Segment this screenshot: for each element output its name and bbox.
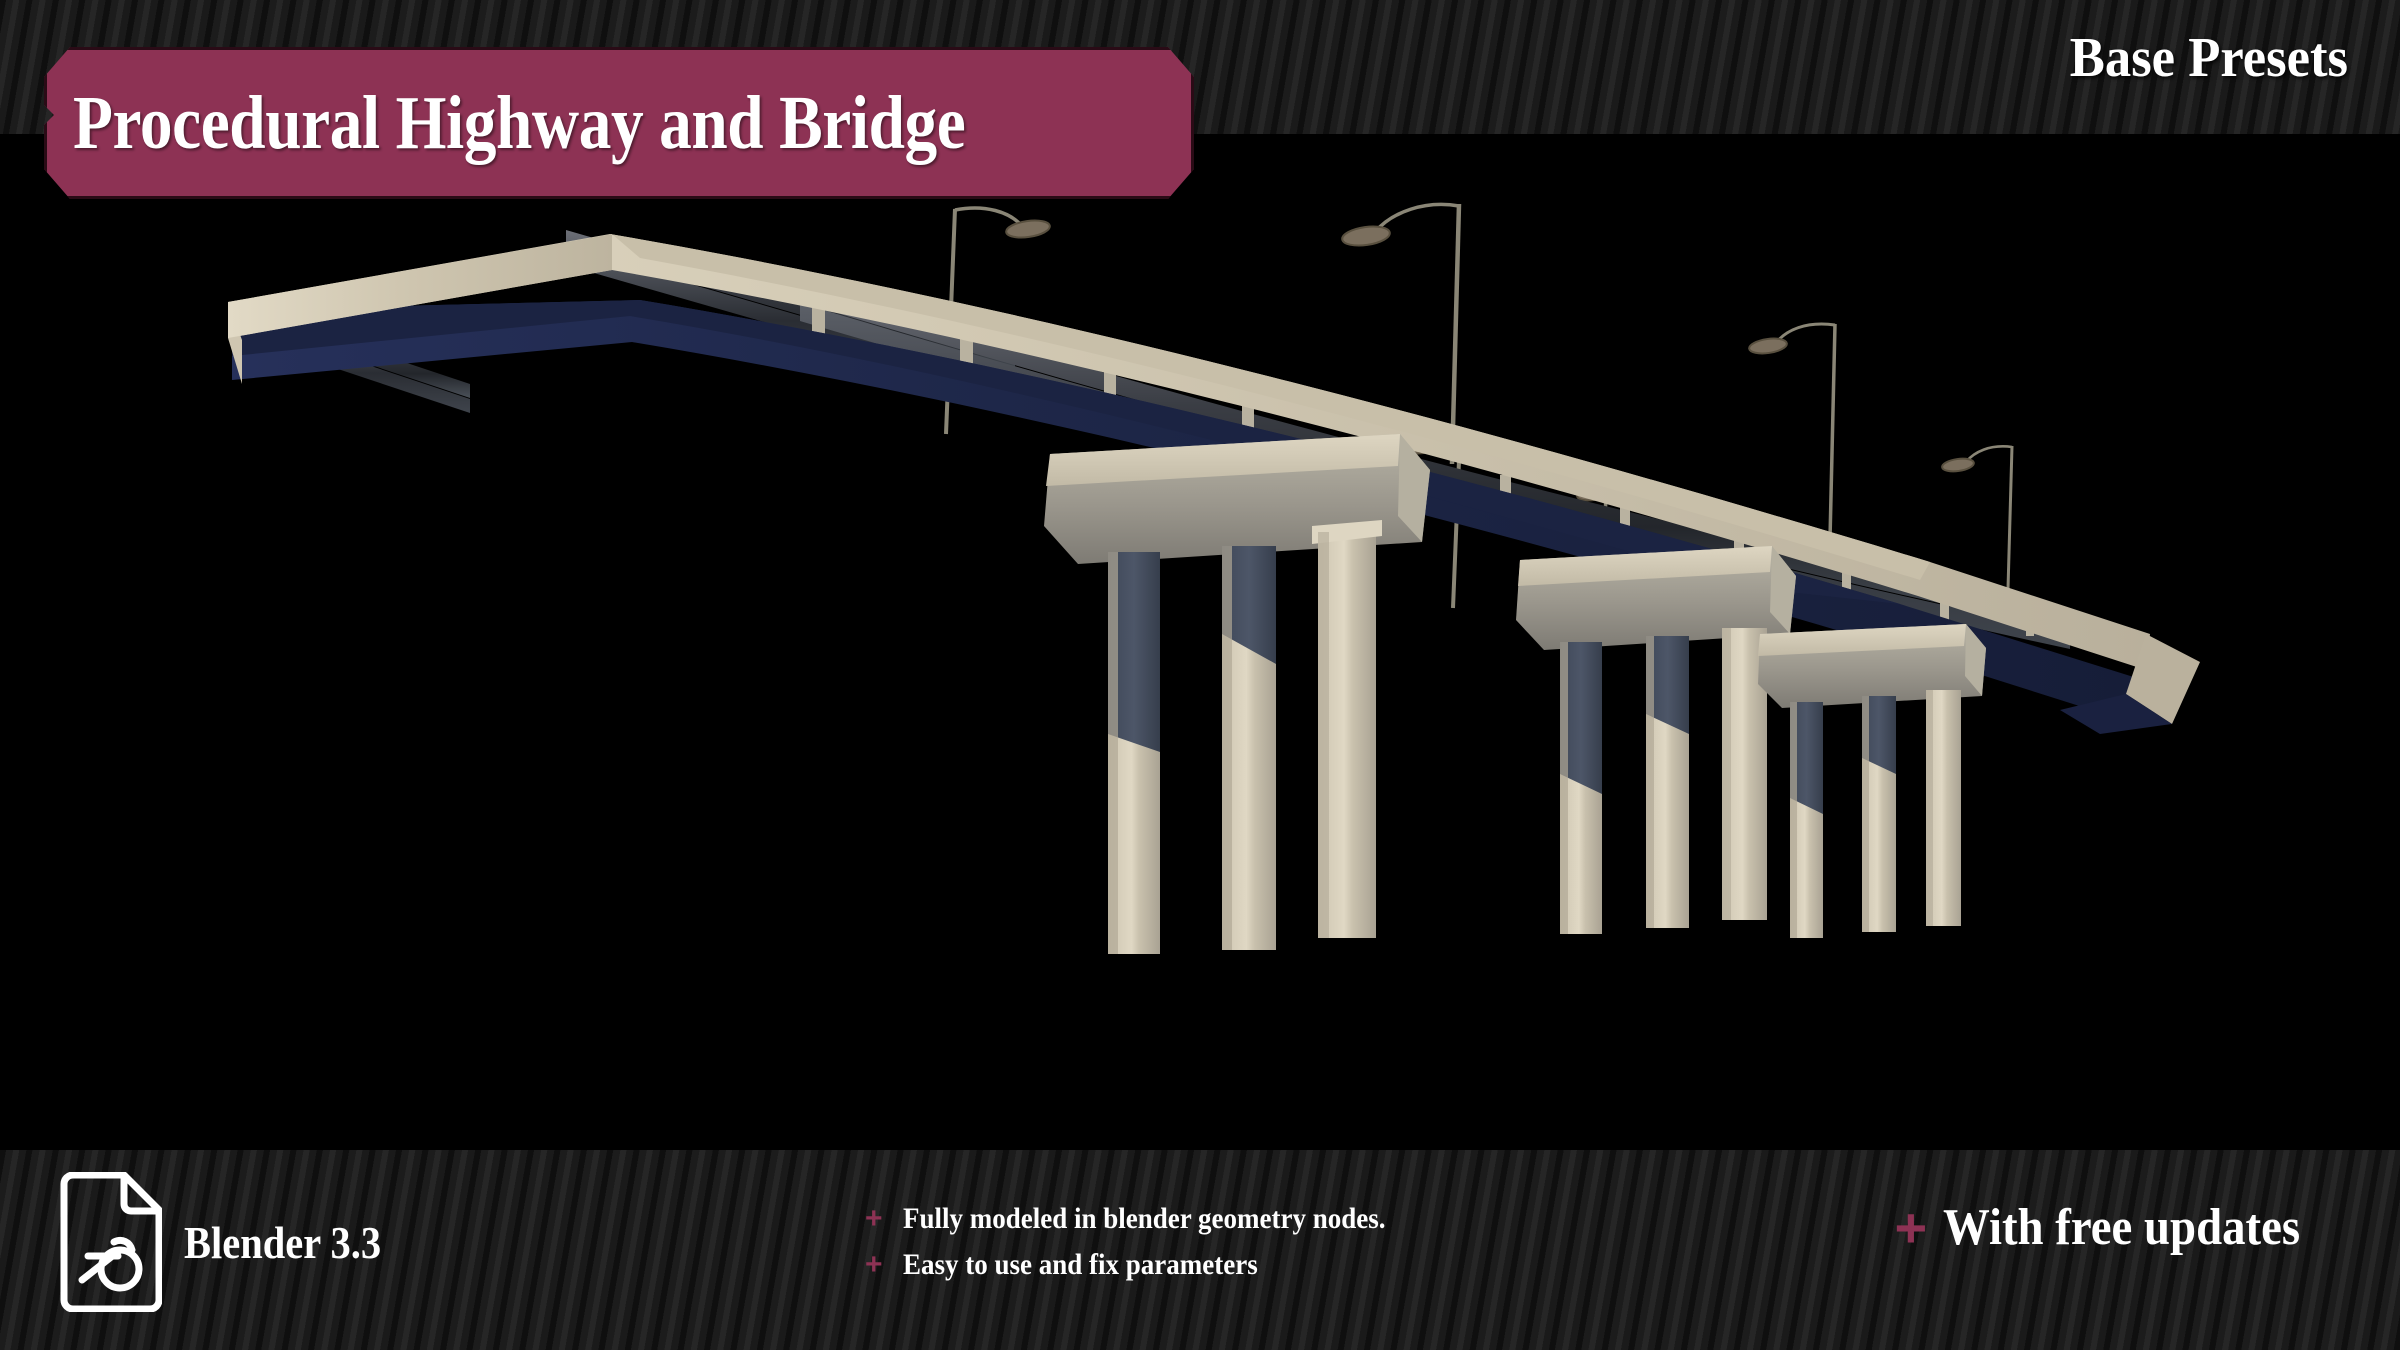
bridge-render-svg	[0, 134, 2400, 1150]
bridge-pier	[1044, 434, 1430, 954]
free-updates-badge: + With free updates	[1895, 1198, 2340, 1257]
street-lamp	[1941, 446, 2012, 589]
software-version-label: Blender 3.3	[184, 1216, 381, 1269]
title-banner: Procedural Highway and Bridge	[44, 47, 1194, 199]
feature-label: Easy to use and fix parameters	[903, 1248, 1258, 1282]
page-title: Procedural Highway and Bridge	[73, 80, 965, 167]
bridge-pier	[1516, 546, 1796, 934]
street-lamp	[1748, 324, 1835, 539]
list-item: + Fully modeled in blender geometry node…	[865, 1202, 1439, 1236]
plus-icon: +	[1895, 1200, 1928, 1256]
plus-icon: +	[865, 1250, 883, 1280]
free-updates-label: With free updates	[1943, 1198, 2300, 1257]
software-badge: Blender 3.3	[58, 1172, 408, 1312]
bridge-render-viewport	[0, 134, 2400, 1150]
feature-list: + Fully modeled in blender geometry node…	[865, 1202, 1439, 1294]
plus-icon: +	[865, 1204, 883, 1234]
blender-file-icon	[58, 1172, 162, 1312]
base-presets-label: Base Presets	[2070, 26, 2348, 90]
footer-bar: Blender 3.3 + Fully modeled in blender g…	[0, 1150, 2400, 1350]
feature-label: Fully modeled in blender geometry nodes.	[903, 1202, 1385, 1236]
list-item: + Easy to use and fix parameters	[865, 1248, 1439, 1282]
bridge-pier	[1758, 624, 1986, 938]
poster-root: Procedural Highway and Bridge Base Prese…	[0, 0, 2400, 1350]
